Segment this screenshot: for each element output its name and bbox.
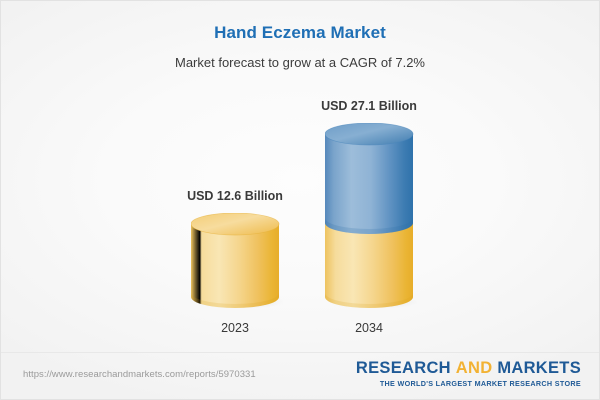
brand-name: RESEARCH AND MARKETS <box>356 360 581 377</box>
bar-group-2034: USD 27.1 Billion <box>1 1 600 356</box>
bar-value-label-2034: USD 27.1 Billion <box>269 99 469 113</box>
brand-word-markets: MARKETS <box>497 359 581 377</box>
footer-divider <box>1 352 599 353</box>
plot-area: USD 12.6 Billion <box>1 1 600 356</box>
footer: https://www.researchandmarkets.com/repor… <box>1 352 599 399</box>
source-url-link[interactable]: https://www.researchandmarkets.com/repor… <box>23 369 256 380</box>
brand-word-and: AND <box>456 359 493 377</box>
brand-tagline: THE WORLD'S LARGEST MARKET RESEARCH STOR… <box>356 379 581 388</box>
brand-logo[interactable]: RESEARCH AND MARKETS THE WORLD'S LARGEST… <box>356 360 581 388</box>
brand-word-research: RESEARCH <box>356 359 451 377</box>
bar-cylinder-2034[interactable] <box>325 123 417 308</box>
bar-category-label-2034: 2034 <box>269 321 469 335</box>
chart-card: Hand Eczema Market Market forecast to gr… <box>0 0 600 400</box>
